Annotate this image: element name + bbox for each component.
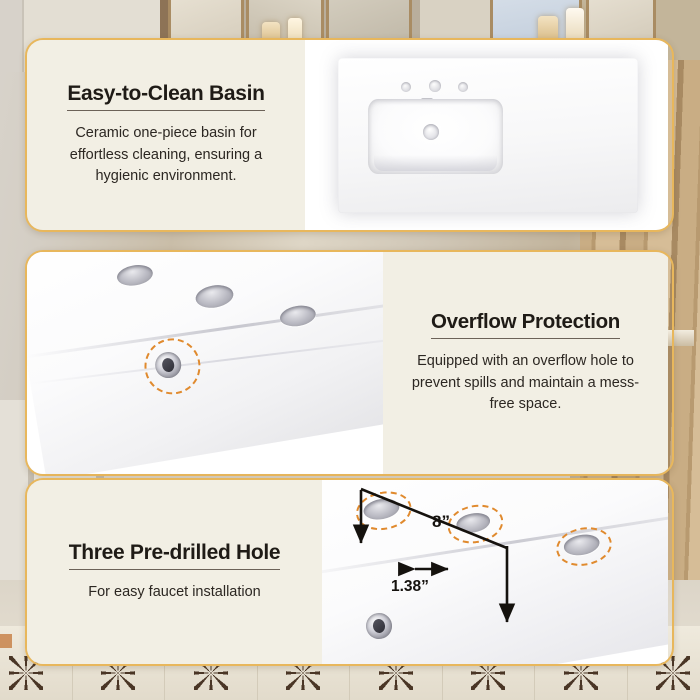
- feature-panel-easy-to-clean-basin: Easy-to-Clean Basin Ceramic one-piece ba…: [25, 38, 674, 232]
- panel-text-block: Three Pre-drilled Hole For easy faucet i…: [27, 480, 322, 664]
- feature-panel-overflow-protection: Overflow Protection Equipped with an ove…: [25, 250, 674, 476]
- panel-text-block: Easy-to-Clean Basin Ceramic one-piece ba…: [27, 40, 305, 230]
- dimension-annotations: [322, 480, 668, 664]
- panel-heading: Overflow Protection: [431, 310, 620, 339]
- sink-countertop: [338, 58, 638, 213]
- faucet-hole-icon: [401, 82, 411, 92]
- panel-image-top-view-sink: [305, 40, 668, 230]
- panel-body-text: For easy faucet installation: [88, 582, 260, 604]
- dimension-label-hole-diameter: 1.38”: [391, 578, 429, 596]
- faucet-hole-icon: [116, 262, 155, 288]
- panel-heading: Three Pre-drilled Hole: [69, 541, 281, 570]
- drain-hole-icon: [423, 124, 439, 140]
- sink-angled-view: [27, 252, 383, 474]
- basin-ridge: [30, 332, 383, 384]
- faucet-hole-icon: [278, 303, 317, 329]
- dimension-label-hole-spacing: 8”: [432, 512, 450, 532]
- overflow-highlight-ring: [140, 334, 204, 398]
- panel-body-text: Equipped with an overflow hole to preven…: [403, 351, 648, 416]
- panel-text-block: Overflow Protection Equipped with an ove…: [383, 252, 668, 474]
- panel-body-text: Ceramic one-piece basin for effortless c…: [59, 123, 274, 188]
- feature-panel-three-pre-drilled-hole: Three Pre-drilled Hole For easy faucet i…: [25, 478, 674, 666]
- panel-image-angled-sink-overflow: [27, 252, 383, 474]
- faucet-hole-icon: [429, 80, 441, 92]
- faucet-hole-icon: [194, 282, 235, 310]
- infographic-canvas: Easy-to-Clean Basin Ceramic one-piece ba…: [0, 0, 700, 700]
- faucet-hole-icon: [458, 82, 468, 92]
- panel-heading: Easy-to-Clean Basin: [67, 82, 264, 111]
- panel-image-hole-dimensions: 8” 1.38”: [322, 480, 668, 664]
